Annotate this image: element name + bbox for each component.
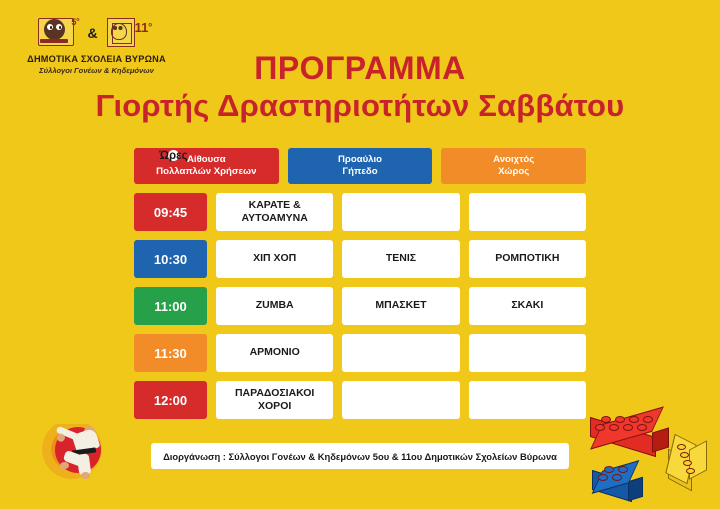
lego-stud bbox=[618, 466, 628, 473]
column-header-hall-line2: Πολλαπλών Χρήσεων bbox=[156, 166, 256, 178]
karate-figure bbox=[50, 424, 110, 484]
column-header-open-line1: Ανοιχτός bbox=[493, 154, 534, 166]
cell-yard: ΤΕΝΙΣ bbox=[342, 240, 459, 278]
column-header-open: Ανοιχτός Χώρος bbox=[441, 148, 586, 184]
schedule-table: Ώρες Αίθουσα Πολλαπλών Χρήσεων Προαύλιο … bbox=[134, 148, 586, 419]
lego-brick-red-icon bbox=[590, 413, 670, 459]
karate-foot-front bbox=[60, 462, 69, 469]
lego-stud bbox=[609, 424, 619, 431]
cell-hall-line2: ΧΟΡΟΙ bbox=[235, 400, 314, 413]
cell-yard bbox=[342, 193, 459, 231]
row-time: 11:30 bbox=[134, 334, 207, 372]
lego-stud bbox=[615, 416, 625, 423]
cell-yard bbox=[342, 334, 459, 372]
lego-stud bbox=[637, 424, 647, 431]
column-header-open-line2: Χώρος bbox=[493, 166, 534, 178]
owl-base bbox=[40, 39, 68, 43]
school-11-number: 11ο bbox=[135, 20, 152, 35]
karate-figure-icon bbox=[36, 418, 128, 492]
lego-stud bbox=[680, 452, 689, 458]
lego-stud bbox=[601, 416, 611, 423]
column-header-yard-line1: Προαύλιο bbox=[338, 154, 382, 166]
cell-hall: ZUMBA bbox=[216, 287, 333, 325]
table-row: 11:30 ΑΡΜΟΝΙΟ bbox=[134, 334, 586, 372]
school-11-emblem-icon: 11ο bbox=[105, 16, 157, 50]
table-row: 12:00 ΠΑΡΑΔΟΣΙΑΚΟΙ ΧΟΡΟΙ bbox=[134, 381, 586, 419]
column-header-yard-line2: Γήπεδο bbox=[338, 166, 382, 178]
cell-open bbox=[469, 193, 586, 231]
poster-title: ΠΡΟΓΡΑΜΜΑ bbox=[0, 50, 720, 87]
lego-blue-side bbox=[628, 477, 643, 502]
organizer-footer: Διοργάνωση : Σύλλογοι Γονέων & Κηδεμόνων… bbox=[151, 443, 569, 469]
cell-hall: ΠΑΡΑΔΟΣΙΑΚΟΙ ΧΟΡΟΙ bbox=[216, 381, 333, 419]
owl-outline-icon bbox=[111, 21, 125, 38]
lego-stud bbox=[686, 468, 695, 474]
lego-stud bbox=[683, 460, 692, 466]
lego-brick-blue-icon bbox=[592, 463, 648, 503]
lego-stud bbox=[623, 424, 633, 431]
lego-stud bbox=[643, 416, 653, 423]
logo-ampersand: & bbox=[87, 25, 97, 41]
table-row: 09:45 ΚΑΡΑΤΕ & ΑΥΤΟΑΜΥΝΑ bbox=[134, 193, 586, 231]
lego-stud bbox=[629, 416, 639, 423]
column-header-yard: Προαύλιο Γήπεδο bbox=[288, 148, 433, 184]
lego-brick-yellow-icon bbox=[664, 433, 720, 507]
logo-marks: 5ο & 11ο bbox=[14, 14, 179, 52]
lego-bricks-group bbox=[586, 405, 714, 505]
cell-open bbox=[469, 381, 586, 419]
cell-hall: ΚΑΡΑΤΕ & ΑΥΤΟΑΜΥΝΑ bbox=[216, 193, 333, 231]
school-11-sup: ο bbox=[148, 23, 152, 29]
karate-foot-back bbox=[81, 472, 90, 479]
cell-hall-line1: ΠΑΡΑΔΟΣΙΑΚΟΙ bbox=[235, 387, 314, 400]
row-time: 12:00 bbox=[134, 381, 207, 419]
cell-hall: ΑΡΜΟΝΙΟ bbox=[216, 334, 333, 372]
row-time: 10:30 bbox=[134, 240, 207, 278]
lego-stud bbox=[677, 444, 686, 450]
poster-subtitle: Γιορτής Δραστηριοτήτων Σαββάτου bbox=[0, 88, 720, 124]
lego-stud bbox=[595, 424, 605, 431]
lego-stud bbox=[598, 474, 608, 481]
cell-yard: ΜΠΑΣΚΕΤ bbox=[342, 287, 459, 325]
lego-stud bbox=[604, 466, 614, 473]
column-header-hours: Ώρες bbox=[168, 150, 179, 161]
table-header-row: Ώρες Αίθουσα Πολλαπλών Χρήσεων Προαύλιο … bbox=[134, 148, 586, 184]
row-time: 11:00 bbox=[134, 287, 207, 325]
cell-hall-line1: ΚΑΡΑΤΕ & bbox=[242, 199, 308, 212]
lego-stud bbox=[612, 474, 622, 481]
table-row: 10:30 ΧΙΠ ΧΟΠ ΤΕΝΙΣ ΡΟΜΠΟΤΙΚΗ bbox=[134, 240, 586, 278]
cell-yard bbox=[342, 381, 459, 419]
karate-fist bbox=[56, 432, 66, 442]
cell-hall: ΧΙΠ ΧΟΠ bbox=[216, 240, 333, 278]
cell-open: ΣΚΑΚΙ bbox=[469, 287, 586, 325]
row-time: 09:45 bbox=[134, 193, 207, 231]
column-header-hall: Αίθουσα Πολλαπλών Χρήσεων bbox=[134, 148, 279, 184]
table-row: 11:00 ZUMBA ΜΠΑΣΚΕΤ ΣΚΑΚΙ bbox=[134, 287, 586, 325]
cell-open bbox=[469, 334, 586, 372]
school-5-sup: ο bbox=[76, 17, 79, 23]
school-5-number: 5ο bbox=[71, 17, 79, 27]
school-5-emblem-icon: 5ο bbox=[36, 16, 80, 50]
cell-open: ΡΟΜΠΟΤΙΚΗ bbox=[469, 240, 586, 278]
cell-hall-line2: ΑΥΤΟΑΜΥΝΑ bbox=[242, 212, 308, 225]
